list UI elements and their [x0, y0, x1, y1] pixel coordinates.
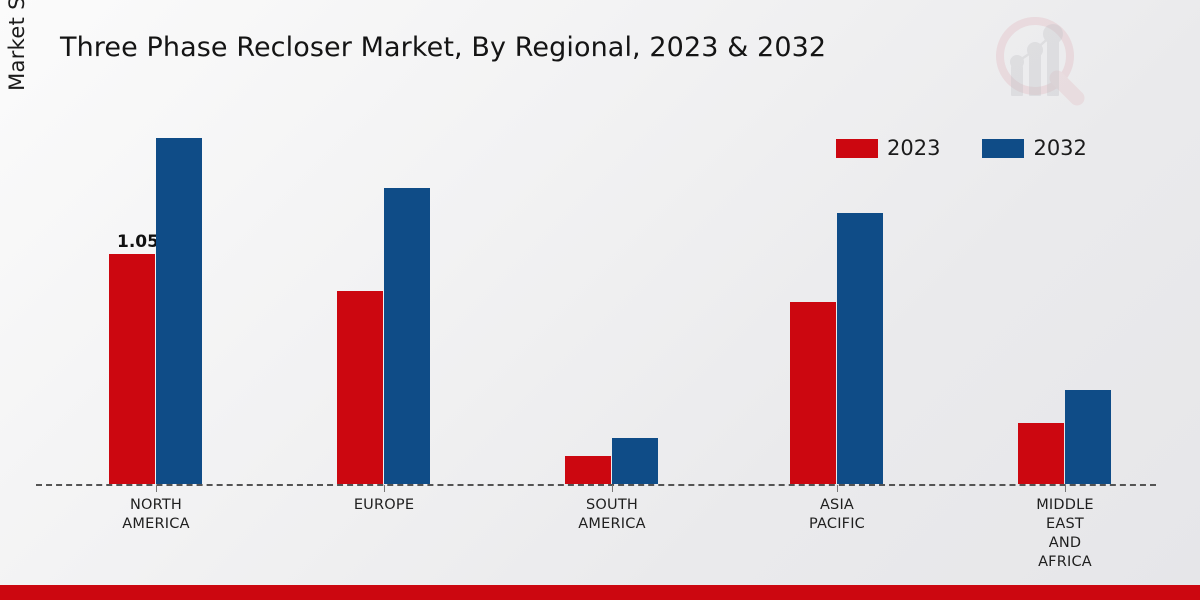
x-axis-tick [612, 485, 613, 492]
x-axis-baseline [36, 484, 1156, 486]
bar-europe-2032[interactable] [384, 188, 430, 484]
bar-north-america-2023[interactable] [109, 254, 155, 484]
x-axis-tick [1065, 485, 1066, 492]
x-axis-tick [384, 485, 385, 492]
x-axis-label-line: AND [970, 534, 1160, 553]
plot-area: 1.05 NORTHAMERICAEUROPESOUTHAMERICAASIAP… [0, 0, 1200, 600]
x-axis-label-south-america: SOUTHAMERICA [517, 496, 707, 534]
x-axis-label-line: PACIFIC [742, 515, 932, 534]
x-axis-label-asia-pacific: ASIAPACIFIC [742, 496, 932, 534]
bar-middle-east-and-africa-2023[interactable] [1018, 423, 1064, 484]
bar-value-label-north-america: 1.05 [117, 232, 159, 252]
x-axis-label-line: ASIA [742, 496, 932, 515]
bar-asia-pacific-2032[interactable] [837, 213, 883, 484]
x-axis-label-line: EAST [970, 515, 1160, 534]
x-axis-label-middle-east-and-africa: MIDDLEEASTANDAFRICA [970, 496, 1160, 572]
x-axis-label-line: EUROPE [289, 496, 479, 515]
x-axis-tick [156, 485, 157, 492]
bar-asia-pacific-2023[interactable] [790, 302, 836, 484]
chart-canvas: Three Phase Recloser Market, By Regional… [0, 0, 1200, 600]
x-axis-label-line: MIDDLE [970, 496, 1160, 515]
x-axis-label-line: NORTH [61, 496, 251, 515]
x-axis-label-line: AMERICA [61, 515, 251, 534]
bar-north-america-2032[interactable] [156, 138, 202, 484]
bar-middle-east-and-africa-2032[interactable] [1065, 390, 1111, 484]
x-axis-label-line: AMERICA [517, 515, 707, 534]
x-axis-label-line: SOUTH [517, 496, 707, 515]
bar-south-america-2023[interactable] [565, 456, 611, 484]
x-axis-label-europe: EUROPE [289, 496, 479, 515]
x-axis-tick [837, 485, 838, 492]
footer-strip [0, 585, 1200, 600]
x-axis-label-line: AFRICA [970, 553, 1160, 572]
bar-europe-2023[interactable] [337, 291, 383, 484]
bar-south-america-2032[interactable] [612, 438, 658, 484]
x-axis-label-north-america: NORTHAMERICA [61, 496, 251, 534]
